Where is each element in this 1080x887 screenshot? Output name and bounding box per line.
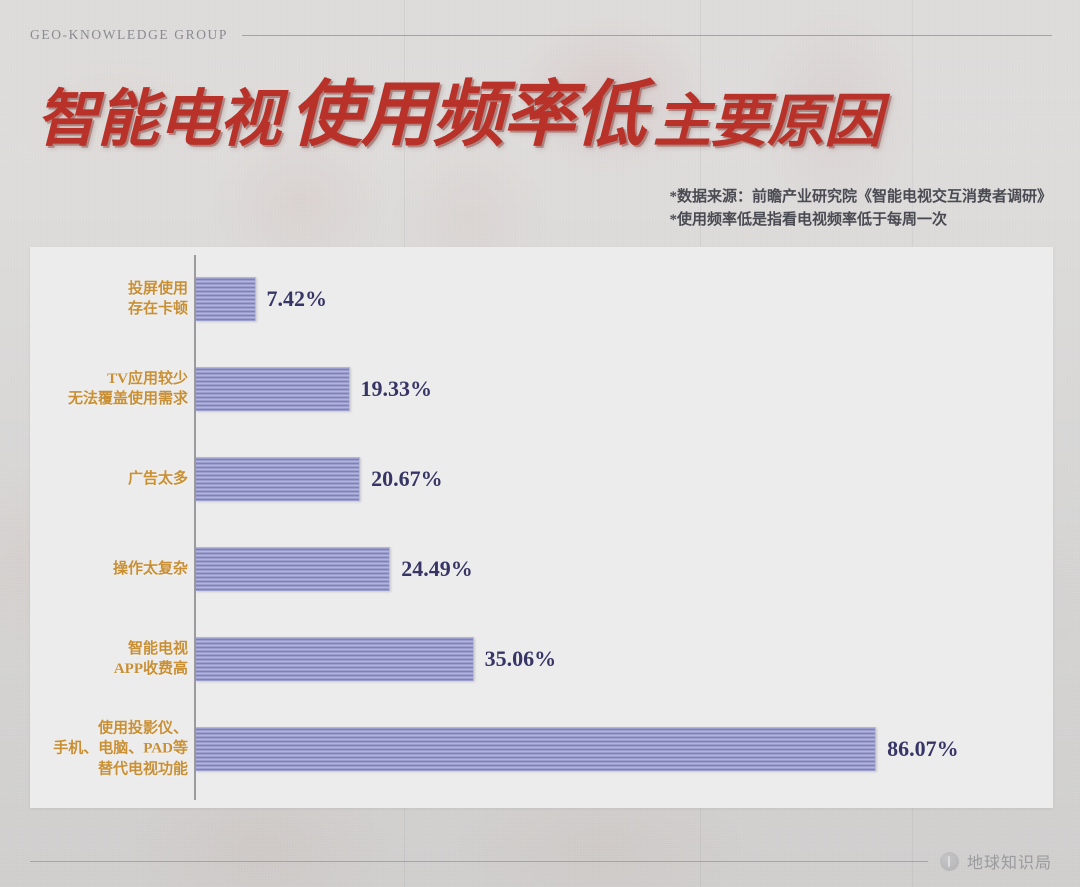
chart-value-label: 20.67% <box>371 468 443 490</box>
title-part-2: 使用频率低 <box>290 78 645 150</box>
chart-bar[interactable] <box>196 277 256 321</box>
chart-bar-rows: 投屏使用 存在卡顿7.42%TV应用较少 无法覆盖使用需求19.33%广告太多2… <box>30 247 1053 808</box>
source-notes: *数据来源：前瞻产业研究院《智能电视交互消费者调研》 *使用频率低是指看电视频率… <box>669 186 1052 233</box>
chart-bar[interactable] <box>196 727 876 771</box>
chart-value-label: 24.49% <box>401 558 473 580</box>
chart-bar-row: 智能电视 APP收费高35.06% <box>30 637 1053 681</box>
chart-category-label: TV应用较少 无法覆盖使用需求 <box>38 369 194 410</box>
chart-value-label: 86.07% <box>887 738 959 760</box>
header-divider <box>242 35 1052 36</box>
footer-brand-name: 地球知识局 <box>967 849 1052 873</box>
infographic-page: GEO-KNOWLEDGE GROUP 智能电视 使用频率低 主要原因 *数据来… <box>0 0 1080 887</box>
footer-logo: 地球知识局 <box>940 849 1052 873</box>
chart-bar-row: 广告太多20.67% <box>30 457 1053 501</box>
brand-name-en: GEO-KNOWLEDGE GROUP <box>30 27 228 43</box>
chart-category-label: 智能电视 APP收费高 <box>38 639 194 680</box>
title-part-3: 主要原因 <box>653 92 881 150</box>
chart-value-label: 19.33% <box>361 378 433 400</box>
chart-bar-row: 操作太复杂24.49% <box>30 547 1053 591</box>
chart-bar-row: TV应用较少 无法覆盖使用需求19.33% <box>30 367 1053 411</box>
footer: 地球知识局 <box>30 850 1052 872</box>
chart-category-label: 广告太多 <box>38 469 194 489</box>
chart-category-label: 使用投影仪、 手机、电脑、PAD等 替代电视功能 <box>38 719 194 780</box>
circle-mark-icon <box>940 852 959 871</box>
chart-panel: 投屏使用 存在卡顿7.42%TV应用较少 无法覆盖使用需求19.33%广告太多2… <box>30 247 1053 808</box>
page-title: 智能电视 使用频率低 主要原因 <box>36 78 881 150</box>
title-part-1: 智能电视 <box>36 88 280 150</box>
header: GEO-KNOWLEDGE GROUP <box>30 26 1052 44</box>
chart-bar[interactable] <box>196 637 474 681</box>
chart-value-label: 35.06% <box>485 648 557 670</box>
chart-bar[interactable] <box>196 547 390 591</box>
source-note-line-2: *使用频率低是指看电视频率低于每周一次 <box>669 209 1052 232</box>
footer-divider <box>30 861 928 862</box>
chart-bar-row: 使用投影仪、 手机、电脑、PAD等 替代电视功能86.07% <box>30 727 1053 771</box>
chart-bar[interactable] <box>196 367 350 411</box>
source-note-line-1: *数据来源：前瞻产业研究院《智能电视交互消费者调研》 <box>669 186 1052 209</box>
chart-category-label: 投屏使用 存在卡顿 <box>38 279 194 320</box>
chart-bar-row: 投屏使用 存在卡顿7.42% <box>30 277 1053 321</box>
chart-bar[interactable] <box>196 457 360 501</box>
chart-value-label: 7.42% <box>267 288 328 310</box>
chart-category-label: 操作太复杂 <box>38 559 194 579</box>
